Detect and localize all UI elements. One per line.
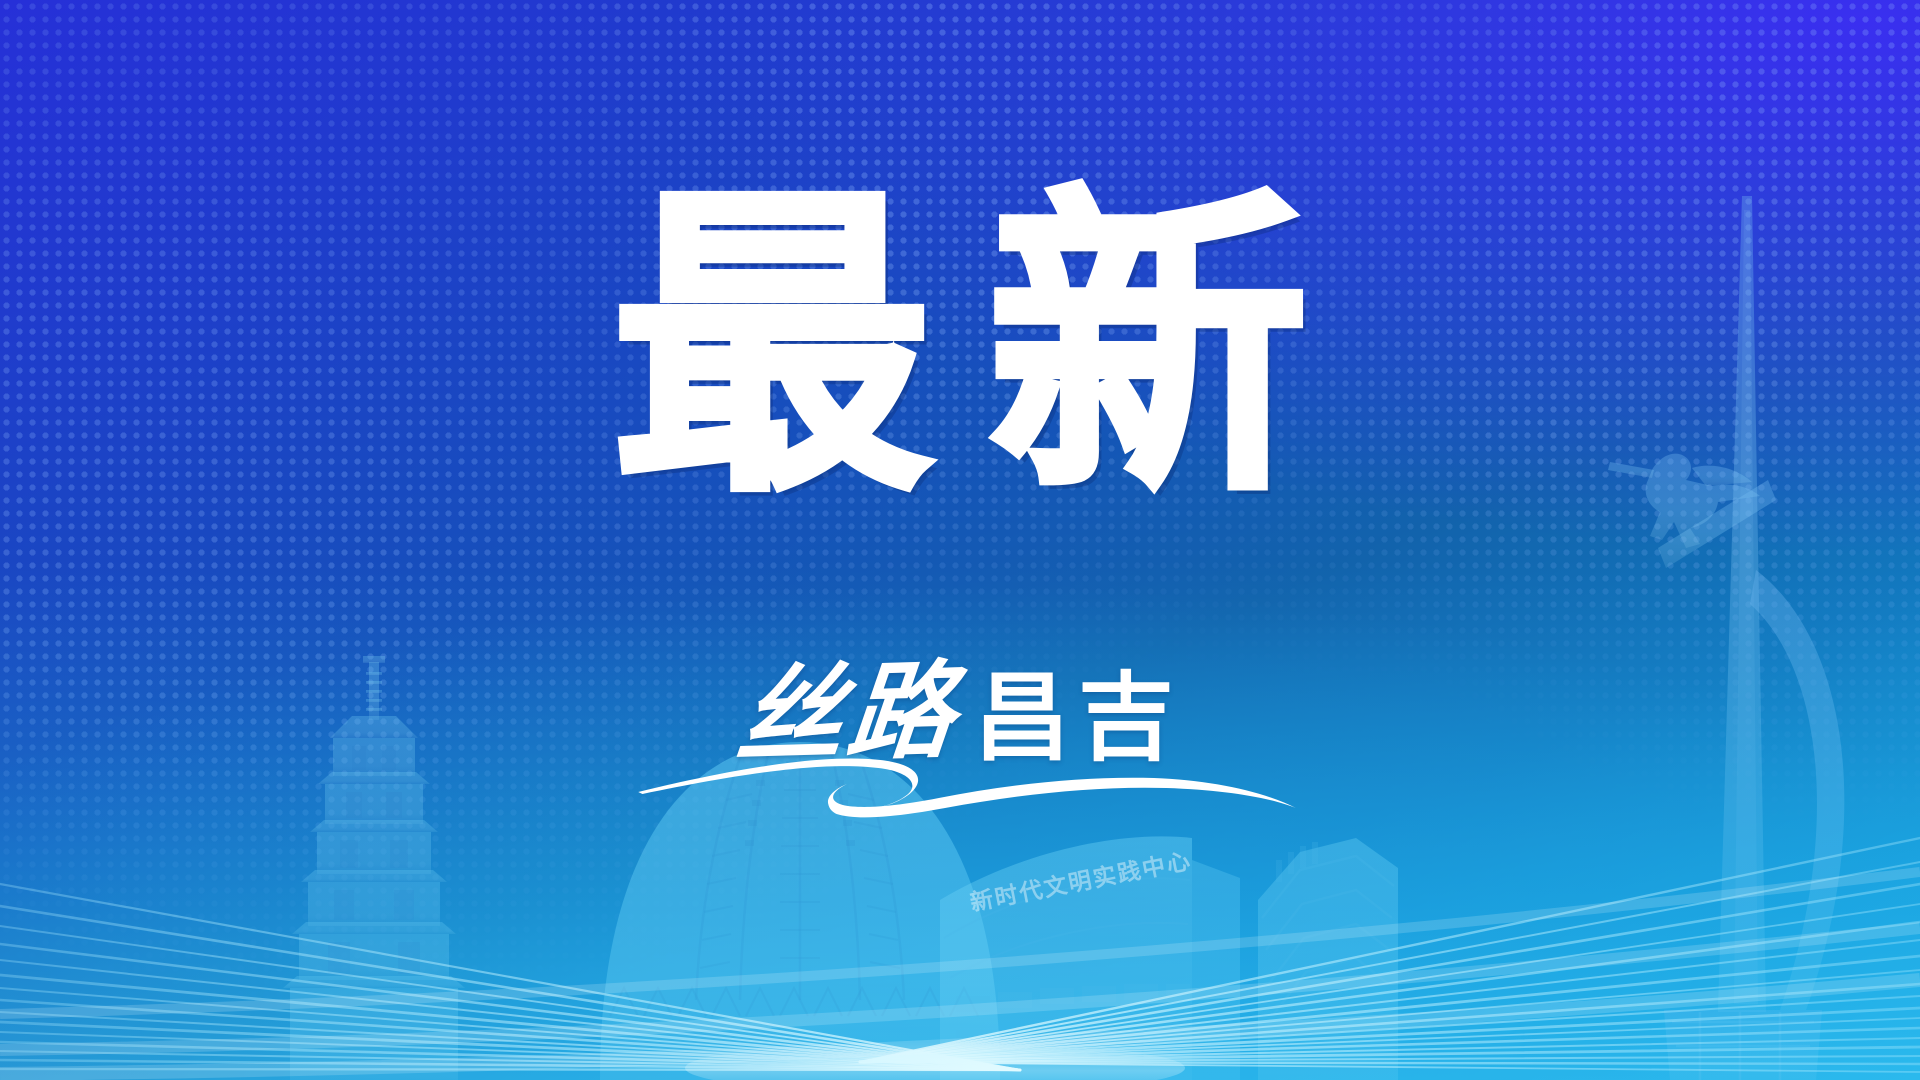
logo-text-row: 丝路 昌吉 <box>650 648 1270 766</box>
stepped-office-building-silhouette <box>1258 838 1398 1080</box>
promo-banner: 新时代文明实践中心 最新 丝路 昌吉 <box>0 0 1920 1080</box>
silk-road-wave-icon <box>632 758 1300 820</box>
page-title: 最新 <box>556 188 1364 508</box>
headline-container: 最新 <box>0 188 1920 508</box>
pagoda-tower-silhouette <box>283 656 465 1080</box>
logo-block-text: 昌吉 <box>974 670 1182 766</box>
brand-logo[interactable]: 丝路 昌吉 <box>650 648 1270 818</box>
logo-script-text: 丝路 <box>733 657 964 769</box>
building-sign-text: 新时代文明实践中心 <box>967 840 1199 917</box>
